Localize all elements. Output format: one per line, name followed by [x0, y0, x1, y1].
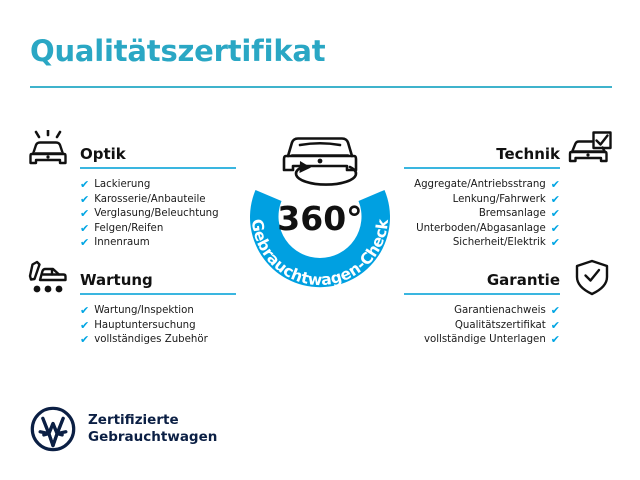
section-technik-divider	[404, 167, 560, 169]
section-garantie-title: Garantie	[404, 271, 560, 289]
list-item: Unterboden/Abgasanlage ✔	[404, 222, 560, 237]
section-optik: Optik ✔ Lackierung ✔ Karosserie/Anbautei…	[80, 145, 236, 251]
list-item-label: Karosserie/Anbauteile	[94, 193, 205, 208]
check-icon: ✔	[551, 178, 560, 193]
list-item-label: Felgen/Reifen	[94, 222, 163, 237]
list-item: Sicherheit/Elektrik ✔	[404, 236, 560, 251]
section-wartung-items: ✔ Wartung/Inspektion ✔ Hauptuntersuchung…	[80, 304, 236, 348]
list-item: Bremsanlage ✔	[404, 207, 560, 222]
section-optik-divider	[80, 167, 236, 169]
section-wartung-header: Wartung	[80, 271, 236, 297]
list-item-label: Verglasung/Beleuchtung	[94, 207, 218, 222]
check-icon: ✔	[551, 319, 560, 334]
check-icon: ✔	[551, 222, 560, 237]
list-item: vollständige Unterlagen ✔	[404, 333, 560, 348]
list-item-label: Aggregate/Antriebsstrang	[414, 178, 546, 193]
list-item-label: Qualitätszertifikat	[455, 319, 546, 334]
check-icon: ✔	[551, 193, 560, 208]
check-icon: ✔	[80, 319, 89, 334]
section-technik: Technik Aggregate/Antriebsstrang ✔ Lenku…	[404, 145, 560, 251]
list-item: ✔ Innenraum	[80, 236, 236, 251]
list-item-label: Bremsanlage	[479, 207, 546, 222]
check-icon: ✔	[551, 207, 560, 222]
footer-line-2: Gebrauchtwagen	[88, 429, 217, 446]
section-wartung-divider	[80, 293, 236, 295]
section-garantie-items: Garantienachweis ✔ Qualitätszertifikat ✔…	[404, 304, 560, 348]
section-optik-items: ✔ Lackierung ✔ Karosserie/Anbauteile ✔ V…	[80, 178, 236, 251]
badge-center-label: 360°	[277, 199, 362, 238]
list-item-label: Hauptuntersuchung	[94, 319, 195, 334]
footer-line-1: Zertifizierte	[88, 412, 217, 429]
certificate-page: Qualitätszertifikat Optik ✔ Lackie	[0, 0, 640, 480]
list-item-label: Lackierung	[94, 178, 150, 193]
list-item: ✔ Felgen/Reifen	[80, 222, 236, 237]
list-item: ✔ Lackierung	[80, 178, 236, 193]
page-title: Qualitätszertifikat	[30, 34, 325, 68]
list-item: Garantienachweis ✔	[404, 304, 560, 319]
list-item-label: Sicherheit/Elektrik	[453, 236, 546, 251]
check-icon: ✔	[80, 236, 89, 251]
section-technik-items: Aggregate/Antriebsstrang ✔ Lenkung/Fahrw…	[404, 178, 560, 251]
list-item-label: Innenraum	[94, 236, 149, 251]
list-item-label: Wartung/Inspektion	[94, 304, 194, 319]
section-technik-header: Technik	[404, 145, 560, 171]
list-item-label: Garantienachweis	[454, 304, 546, 319]
check-icon: ✔	[80, 207, 89, 222]
section-optik-title: Optik	[80, 145, 236, 163]
car-rotate-360-icon	[284, 139, 356, 185]
check-icon: ✔	[551, 236, 560, 251]
car-checkbox-icon	[568, 130, 614, 174]
section-wartung-title: Wartung	[80, 271, 236, 289]
check-icon: ✔	[551, 333, 560, 348]
list-item: Aggregate/Antriebsstrang ✔	[404, 178, 560, 193]
list-item: ✔ vollständiges Zubehör	[80, 333, 236, 348]
section-garantie-header: Garantie	[404, 271, 560, 297]
list-item: ✔ Verglasung/Beleuchtung	[80, 207, 236, 222]
list-item-label: vollständiges Zubehör	[94, 333, 208, 348]
car-front-shine-icon	[26, 130, 70, 174]
check-icon: ✔	[80, 304, 89, 319]
section-garantie-divider	[404, 293, 560, 295]
list-item-label: vollständige Unterlagen	[424, 333, 546, 348]
footer-text: Zertifizierte Gebrauchtwagen	[88, 412, 217, 446]
list-item: ✔ Wartung/Inspektion	[80, 304, 236, 319]
shield-check-icon	[572, 258, 612, 302]
volkswagen-logo	[30, 406, 76, 452]
check-icon: ✔	[80, 193, 89, 208]
check-icon: ✔	[80, 178, 89, 193]
check-icon: ✔	[80, 333, 89, 348]
list-item: ✔ Hauptuntersuchung	[80, 319, 236, 334]
title-divider	[30, 86, 612, 88]
check-icon: ✔	[80, 222, 89, 237]
list-item-label: Lenkung/Fahrwerk	[453, 193, 546, 208]
gebrauchtwagen-check-badge: Gebrauchtwagen-Check 360°	[228, 122, 412, 306]
section-wartung: Wartung ✔ Wartung/Inspektion ✔ Hauptunte…	[80, 271, 236, 348]
list-item: Qualitätszertifikat ✔	[404, 319, 560, 334]
section-garantie: Garantie Garantienachweis ✔ Qualitätszer…	[404, 271, 560, 348]
list-item: ✔ Karosserie/Anbauteile	[80, 193, 236, 208]
list-item: Lenkung/Fahrwerk ✔	[404, 193, 560, 208]
wrench-car-icon	[26, 258, 70, 302]
volkswagen-footer: Zertifizierte Gebrauchtwagen	[30, 406, 217, 452]
section-optik-header: Optik	[80, 145, 236, 171]
list-item-label: Unterboden/Abgasanlage	[416, 222, 546, 237]
section-technik-title: Technik	[404, 145, 560, 163]
check-icon: ✔	[551, 304, 560, 319]
